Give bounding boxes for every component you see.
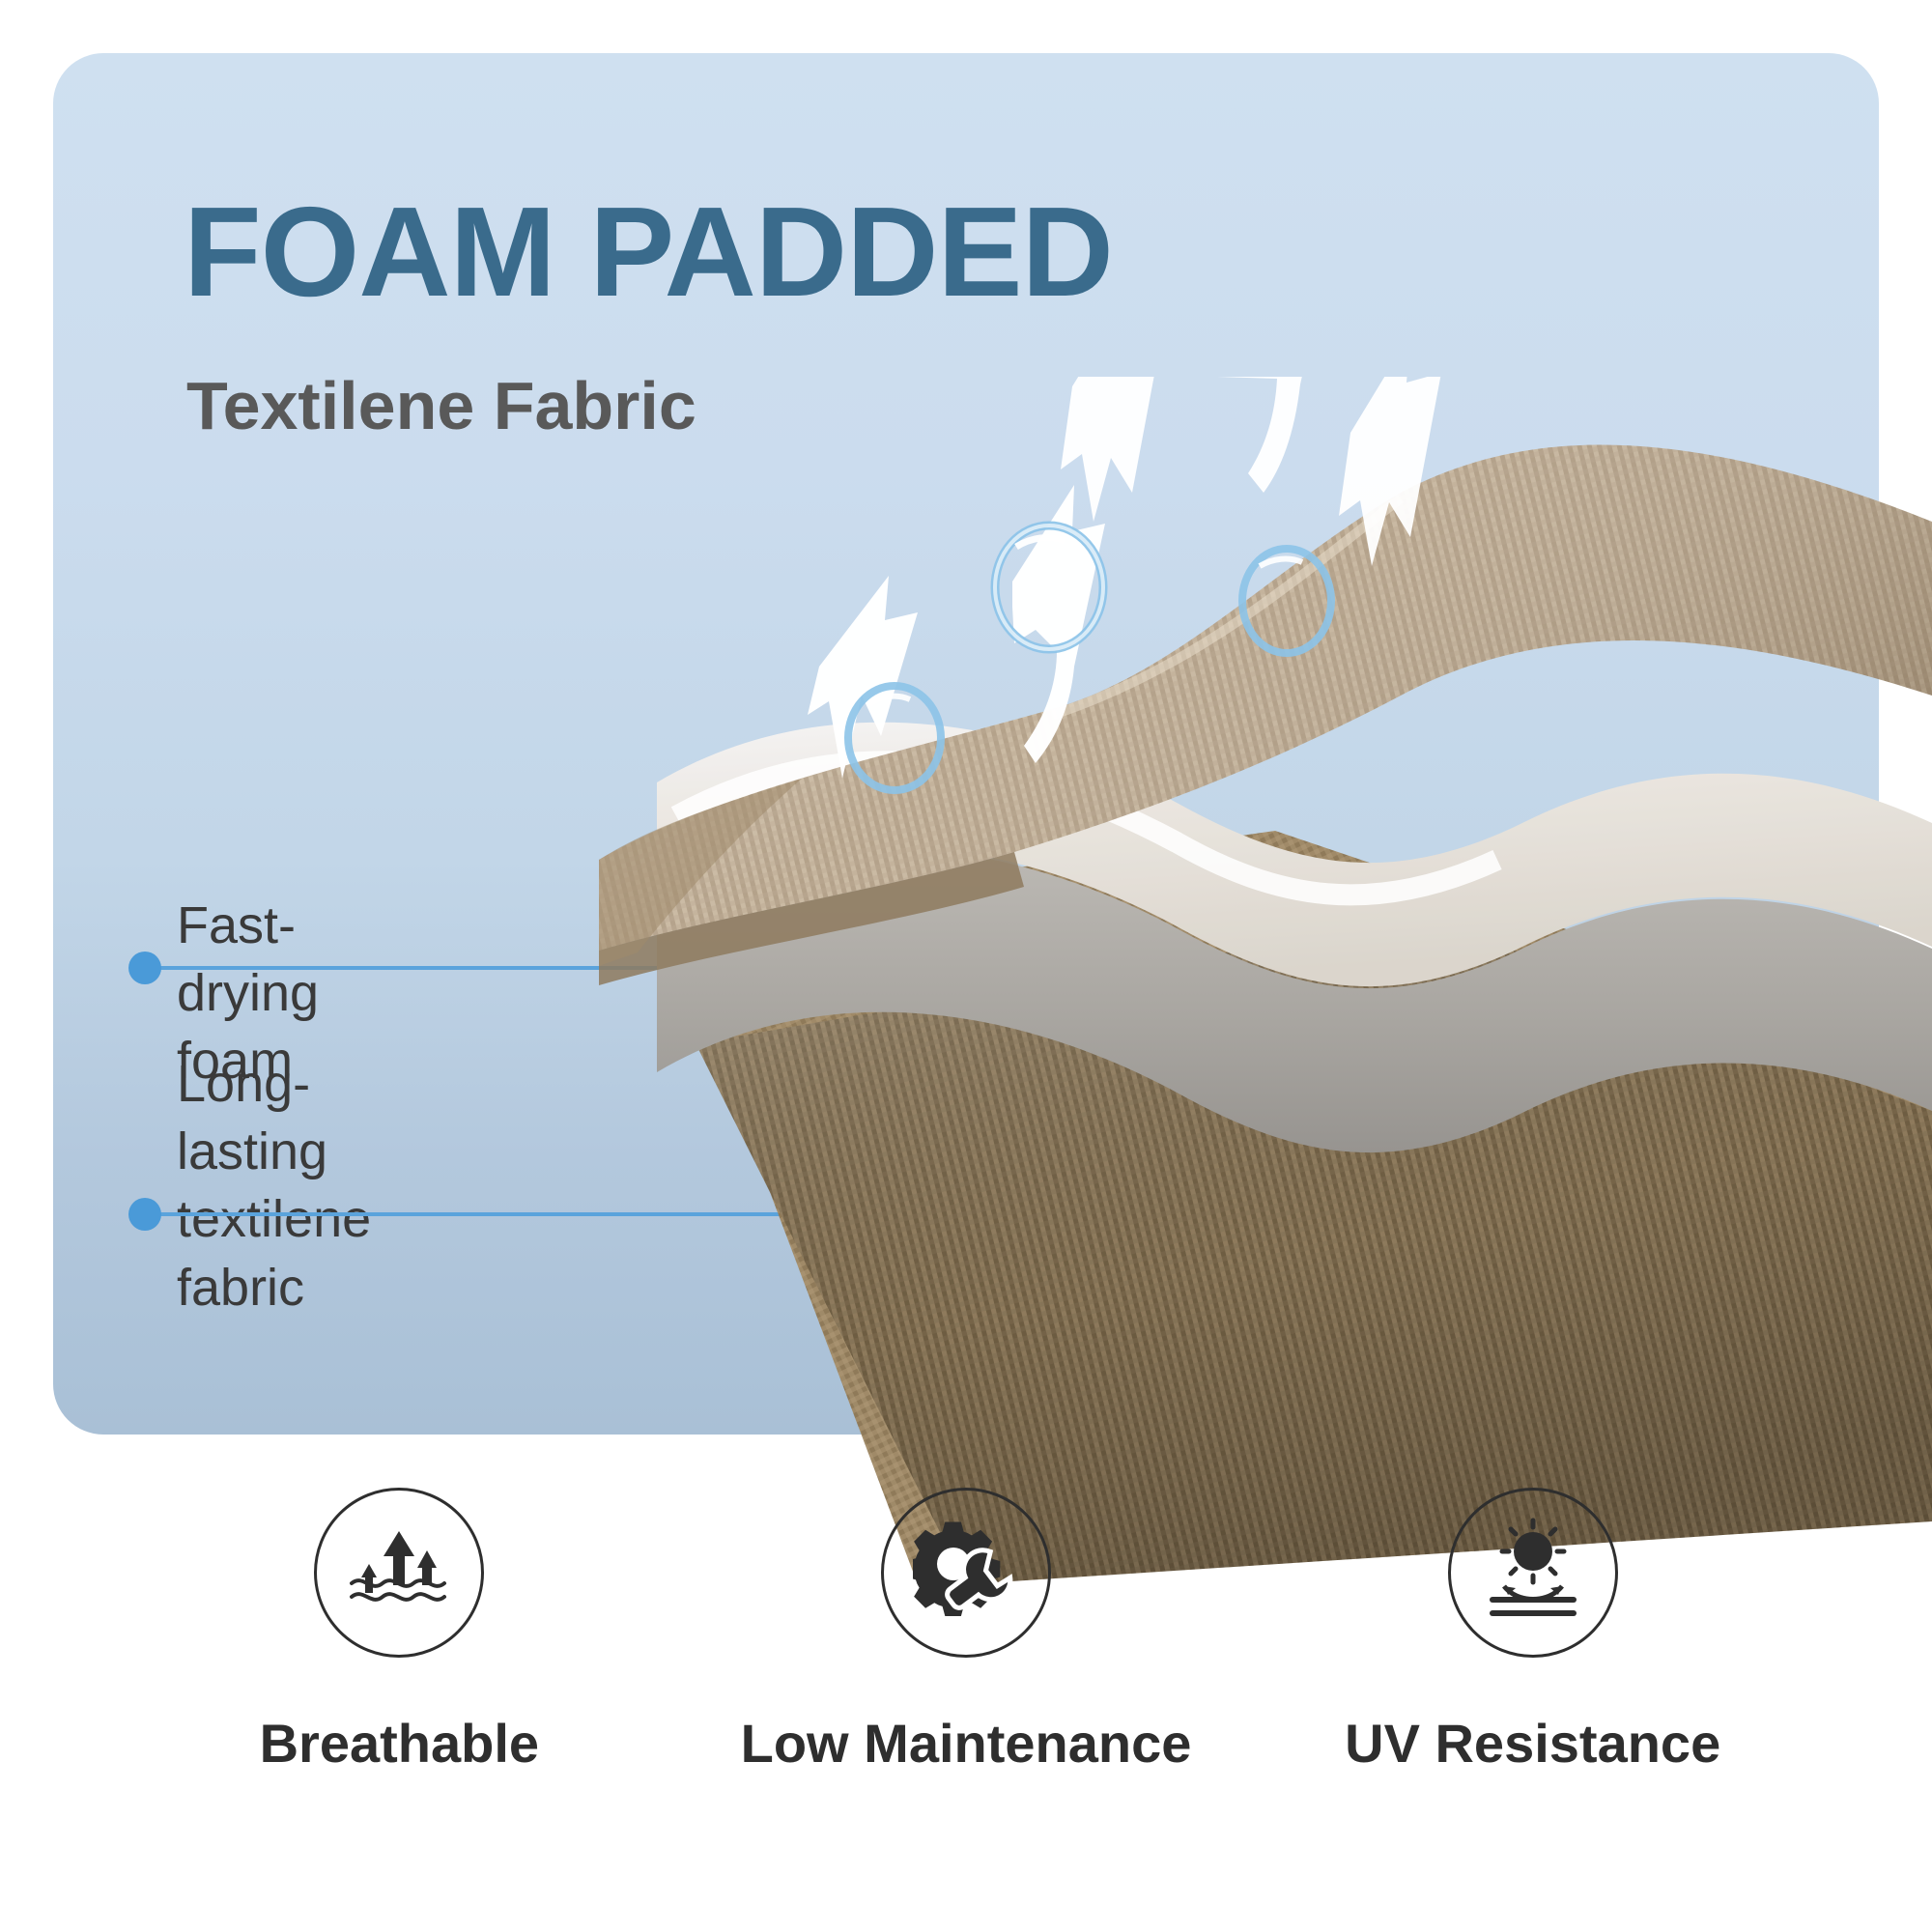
- low-maintenance-icon-circle: [881, 1488, 1051, 1658]
- airflow-arrow: [1217, 377, 1337, 493]
- product-cutaway-illustration: [599, 377, 1932, 1584]
- page-title: FOAM PADDED: [184, 188, 1113, 316]
- uv-resistance-icon-circle: [1448, 1488, 1618, 1658]
- feature-list: Breathable Low Maintenance: [116, 1488, 1816, 1893]
- breathable-arrows-waves-icon: [342, 1514, 456, 1633]
- airflow-arrow: [1061, 377, 1163, 522]
- infographic-root: FOAM PADDED Textilene Fabric Fast-drying…: [0, 0, 1932, 1932]
- feature-label: Breathable: [260, 1712, 539, 1775]
- feature-uv-resistance: UV Resistance: [1249, 1488, 1816, 1893]
- sun-uv-deflect-icon: [1477, 1515, 1589, 1632]
- feature-label: Low Maintenance: [741, 1712, 1192, 1775]
- callout-label: Long-lasting textilene fabric: [177, 1050, 371, 1321]
- callout-dot-marker: [128, 1198, 161, 1231]
- breathable-icon-circle: [314, 1488, 484, 1658]
- callout-dot-marker: [128, 952, 161, 984]
- feature-label: UV Resistance: [1345, 1712, 1720, 1775]
- feature-breathable: Breathable: [116, 1488, 683, 1893]
- feature-low-maintenance: Low Maintenance: [683, 1488, 1250, 1893]
- gear-wrench-icon: [913, 1518, 1019, 1629]
